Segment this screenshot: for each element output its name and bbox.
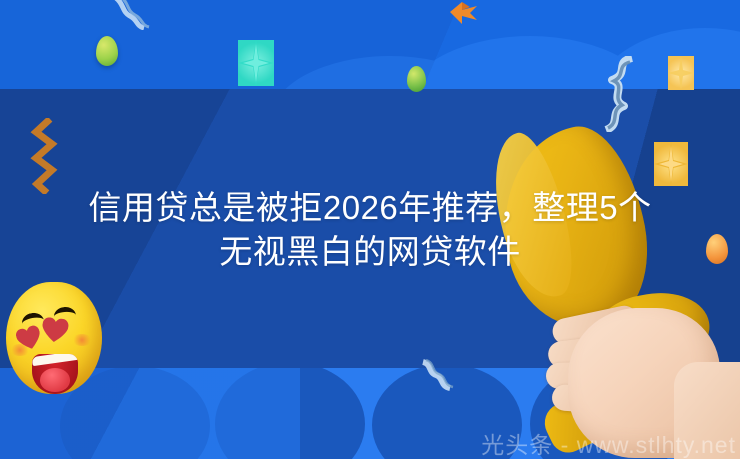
sparkle-star-cyan-icon <box>238 40 274 86</box>
zigzag-streamer-orange-icon <box>30 118 60 194</box>
sparkle-star-gold-small-icon <box>668 56 694 90</box>
emoji-teeth <box>32 354 78 366</box>
promo-banner: 信用贷总是被拒2026年推荐，整理5个 无视黑白的网贷软件 光头条 - www.… <box>0 0 740 459</box>
emoji-tongue <box>40 368 70 392</box>
emoji-heart-eyes-face <box>6 282 102 394</box>
balloon-green-left-icon <box>96 36 118 66</box>
spiral-ribbon-top-left-icon <box>112 0 156 30</box>
balloon-green-right-icon <box>407 66 426 92</box>
emoji-blush <box>72 334 92 346</box>
page-title: 信用贷总是被拒2026年推荐，整理5个 无视黑白的网贷软件 <box>0 186 740 274</box>
spiral-ribbon-bottom-icon <box>420 358 460 392</box>
watermark: 光头条 - www.stlhty.net <box>0 426 740 459</box>
sparkle-star-gold-icon <box>654 142 688 186</box>
diagonal-shade <box>120 0 740 89</box>
origami-arrow-orange-icon <box>450 2 478 24</box>
spiral-ribbon-right-icon <box>592 56 640 132</box>
